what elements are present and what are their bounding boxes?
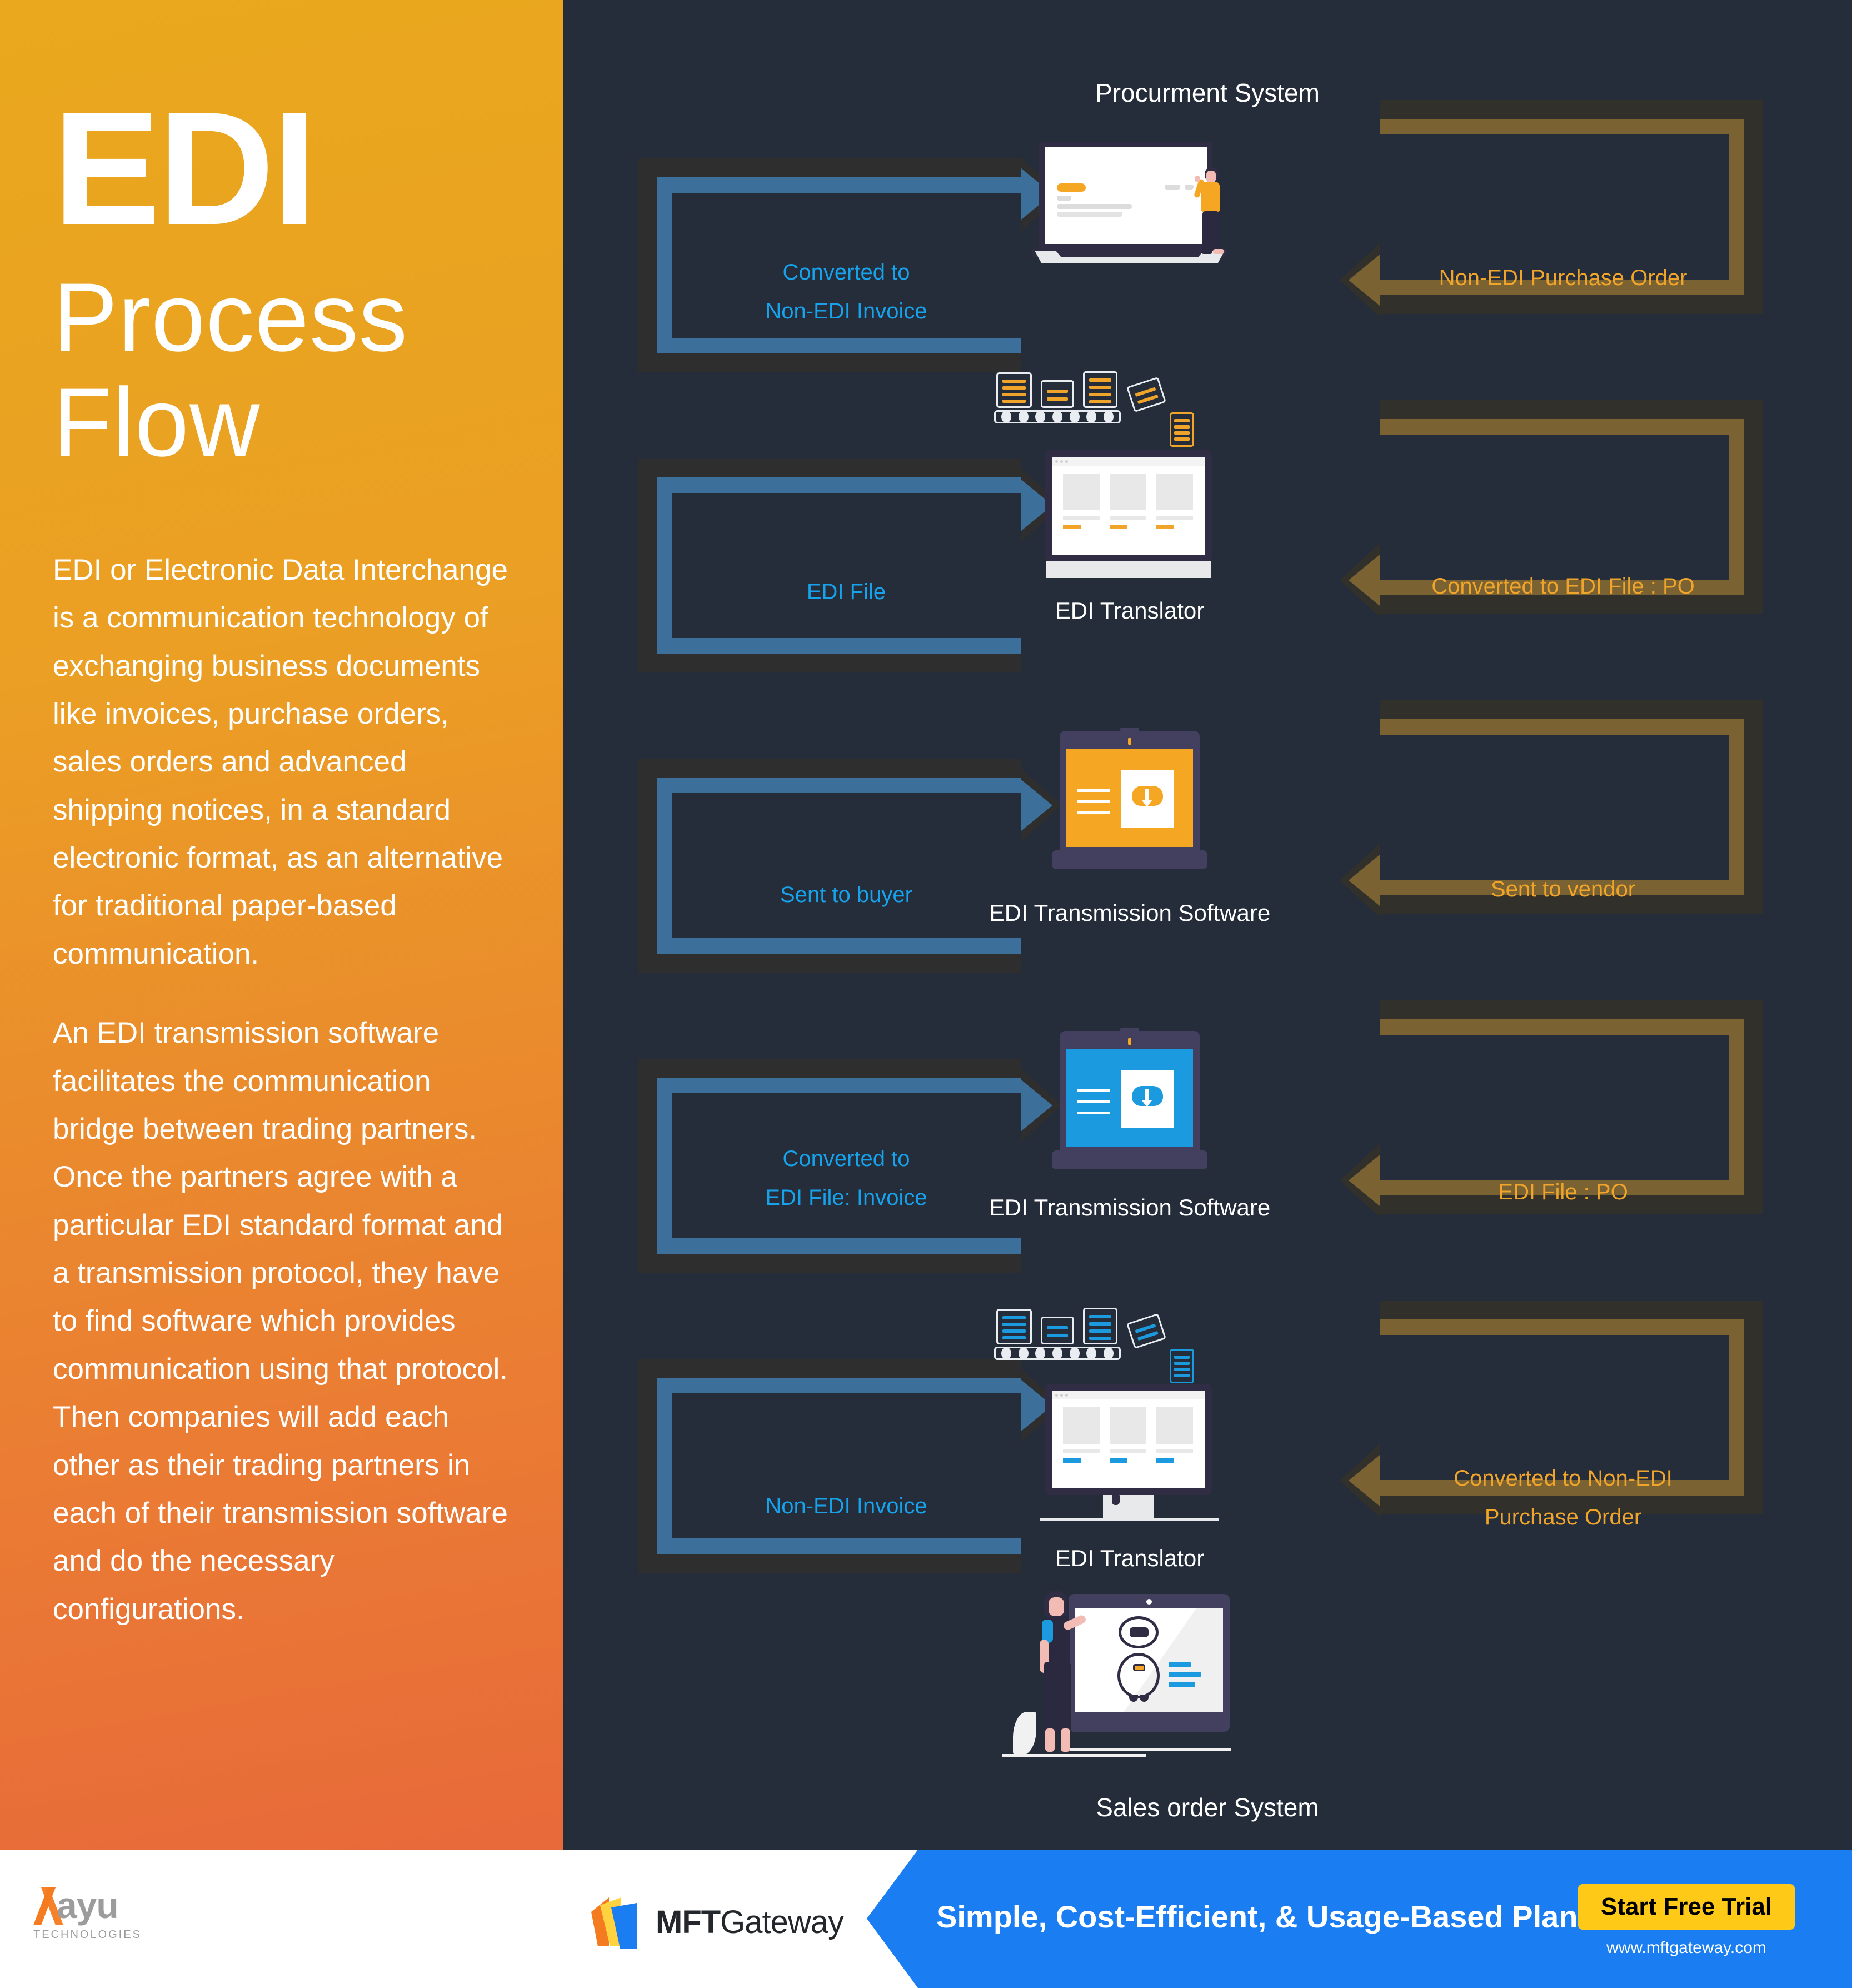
arrowhead-blue-3: [1021, 780, 1052, 831]
document-icon: [1041, 1317, 1074, 1344]
arrowhead-gold-r1: [1349, 255, 1380, 306]
window-titlebar: [1052, 457, 1205, 466]
mftgateway-wordmark: MFTGateway: [656, 1904, 843, 1941]
flow-label-left-2: EDI File: [746, 572, 946, 611]
tablet-screen: [1066, 1049, 1193, 1147]
download-arrow-head: [1142, 1100, 1152, 1107]
flow-arrow-left-3: [638, 759, 1021, 973]
monitor-power-button: [1112, 1493, 1120, 1505]
content-line: [1110, 516, 1146, 520]
document-icon-output: [1170, 1349, 1194, 1383]
arrow-stem-vertical: [657, 778, 672, 954]
process-flow-diagram: Procurment System Sales order System: [563, 0, 1852, 1850]
screen-line: [1077, 789, 1110, 792]
aayu-tagline: TECHNOLOGIES: [33, 1929, 142, 1941]
arrow-stem-bottom: [657, 338, 1021, 353]
person-shirt: [1201, 182, 1220, 212]
content-accent: [1156, 1458, 1174, 1463]
arrow-stem-vertical: [657, 477, 672, 654]
tablet-base: [1052, 850, 1207, 869]
person-leg-skin: [1045, 1728, 1055, 1752]
window-dot: [1060, 460, 1063, 463]
robot-foot: [1129, 1695, 1138, 1702]
monitor-screen: [1052, 457, 1205, 555]
sales-order-system-illustration: [1002, 1590, 1235, 1773]
screen-line: [1185, 185, 1194, 190]
tablet-screen: [1066, 749, 1193, 847]
content-accent: [1156, 525, 1174, 529]
person-head: [1049, 1597, 1064, 1616]
document-icon-output: [1170, 412, 1194, 447]
screen-line: [1165, 185, 1180, 190]
content-block: [1063, 474, 1100, 510]
flow-arrow-left-2: [638, 459, 1021, 672]
page-title-flow: Flow: [53, 370, 518, 475]
screen-accent-chip: [1057, 183, 1086, 192]
flow-label-left-4: Converted to EDI File: Invoice: [746, 1139, 946, 1217]
person-presenting-icon: [1034, 1590, 1081, 1756]
tablet-indicator: [1128, 1038, 1131, 1045]
ground-line: [1002, 1754, 1146, 1757]
person-head: [1206, 171, 1216, 183]
content-block: [1110, 1407, 1146, 1444]
tablet-indicator: [1128, 738, 1131, 745]
content-accent: [1063, 1458, 1081, 1463]
arrow-stem-top: [657, 1078, 1021, 1093]
aayu-logo: ayu TECHNOLOGIES: [33, 1884, 142, 1941]
screen-line: [1077, 1112, 1110, 1114]
tablet-notch: [1120, 1028, 1139, 1033]
person-leg-skin: [1061, 1728, 1070, 1752]
content-block: [1110, 474, 1146, 510]
document-icon-tilted: [1126, 377, 1166, 412]
person-hand: [1195, 176, 1200, 182]
tablet-camera: [1146, 1599, 1152, 1605]
mftgateway-mark-icon: [589, 1893, 647, 1951]
person-standing-icon: [1195, 167, 1226, 261]
robot-visor: [1130, 1627, 1149, 1637]
flow-label-right-5: Converted to Non-EDI Purchase Order: [1385, 1459, 1741, 1537]
screen-line: [1169, 1682, 1195, 1687]
document-icon-tilted: [1126, 1313, 1166, 1349]
document-icon: [996, 1309, 1032, 1344]
window-dot: [1055, 1394, 1058, 1397]
screen-line: [1077, 800, 1110, 803]
monitor-base: [1040, 1518, 1219, 1521]
footer-website-url[interactable]: www.mftgateway.com: [1578, 1939, 1795, 1957]
flow-label-left-3: Sent to buyer: [746, 875, 946, 914]
procurement-system-illustration: [1032, 142, 1227, 286]
node-label-edi-translator-1: EDI Translator: [952, 597, 1307, 624]
content-line: [1156, 516, 1193, 520]
hero-description: EDI or Electronic Data Interchange is a …: [53, 546, 514, 1633]
robot-foot: [1140, 1695, 1149, 1702]
edi-transmission-software-illustration-orange: [1052, 731, 1207, 881]
document-card: [1121, 1070, 1174, 1128]
document-icon: [1083, 1308, 1117, 1344]
screen-line: [1169, 1662, 1191, 1667]
window-dot: [1065, 460, 1068, 463]
person-shoe: [1213, 249, 1224, 254]
screen-line: [1077, 811, 1110, 814]
window-dot: [1060, 1394, 1063, 1397]
content-line: [1063, 516, 1100, 520]
screen-line: [1077, 1100, 1110, 1103]
infographic-page: EDI Process Flow EDI or Electronic Data …: [0, 0, 1852, 1988]
mftgateway-logo: MFTGateway: [589, 1893, 843, 1951]
content-accent: [1110, 525, 1127, 529]
monitor-stand: [1046, 561, 1211, 578]
arrow-stem-top: [657, 1378, 1021, 1393]
page-title-edi: EDI: [53, 94, 518, 243]
tablet-base: [1052, 1150, 1207, 1169]
node-label-edi-transmission-1: EDI Transmission Software: [952, 895, 1307, 931]
flow-label-left-5: Non-EDI Invoice: [746, 1487, 946, 1526]
flow-label-right-3: Sent to vendor: [1385, 870, 1741, 909]
document-cluster-orange-1: [991, 367, 1213, 450]
arrowhead-gold-r4: [1349, 1155, 1380, 1206]
arrow-stem-top: [657, 177, 1021, 193]
person-legs: [1044, 1662, 1071, 1733]
screen-line: [1057, 196, 1071, 201]
screen-line: [1077, 1089, 1110, 1092]
arrow-stem-vertical: [657, 177, 672, 353]
screen-line: [1169, 1672, 1201, 1677]
flow-label-left-1: Converted to Non-EDI Invoice: [746, 253, 946, 331]
aayu-wordmark: ayu: [57, 1884, 118, 1926]
robot-body-outline: [1117, 1653, 1160, 1698]
arrow-stem-bottom: [657, 638, 1021, 654]
flow-label-right-4: EDI File : PO: [1385, 1173, 1741, 1212]
content-block: [1063, 1407, 1100, 1444]
page-title-process: Process: [53, 265, 518, 370]
arrow-stem-vertical: [1729, 719, 1744, 895]
content-accent: [1110, 1458, 1127, 1463]
node-label-edi-translator-2: EDI Translator: [952, 1545, 1307, 1572]
monitor-neck: [1103, 1495, 1154, 1518]
monitor-screen: [1052, 1391, 1205, 1488]
content-block: [1156, 474, 1193, 510]
conveyor-belt-icon: [994, 1347, 1121, 1360]
content-line: [1110, 1449, 1146, 1453]
arrow-stem-vertical: [657, 1078, 672, 1254]
flow-label-right-2: Converted to EDI File : PO: [1385, 567, 1741, 606]
person-legs: [1202, 211, 1219, 251]
laptop-screen: [1045, 147, 1207, 244]
window-titlebar: [1052, 1391, 1205, 1399]
screen-line: [1057, 204, 1132, 209]
hero-panel: EDI Process Flow EDI or Electronic Data …: [0, 0, 563, 1850]
tablet-device: [1069, 1594, 1230, 1744]
node-label-edi-transmission-2: EDI Transmission Software: [952, 1189, 1307, 1225]
arrowhead-blue-4: [1021, 1080, 1052, 1131]
arrow-stem-bottom: [657, 938, 1021, 954]
conveyor-belt-icon: [994, 410, 1121, 423]
arrow-stem-top: [1380, 1319, 1744, 1335]
plant-leaf-icon: [1013, 1712, 1036, 1755]
arrowhead-gold-r2: [1349, 555, 1380, 606]
document-cluster-blue: [991, 1303, 1213, 1387]
content-block: [1156, 1407, 1193, 1444]
flow-label-right-1: Non-EDI Purchase Order: [1385, 258, 1741, 297]
start-free-trial-button[interactable]: Start Free Trial: [1578, 1884, 1795, 1930]
tablet-notch: [1120, 728, 1139, 733]
document-icon: [1083, 371, 1117, 408]
edi-transmission-software-illustration-blue: [1052, 1031, 1207, 1181]
footer-bar: ayu TECHNOLOGIES MFTGateway Simple, Cost…: [0, 1850, 1852, 1988]
person-shoe: [1201, 249, 1212, 254]
content-line: [1156, 1449, 1193, 1453]
document-icon: [1041, 380, 1074, 408]
arrow-stem-top: [657, 778, 1021, 793]
document-icon: [996, 372, 1032, 408]
arrow-stem-vertical: [657, 1378, 672, 1554]
flow-arrow-left-5: [638, 1359, 1021, 1573]
arrow-stem-top: [657, 477, 1021, 493]
arrow-stem-top: [1380, 419, 1744, 435]
document-card: [1121, 770, 1174, 828]
arrow-stem-bottom: [657, 1238, 1021, 1254]
content-accent: [1063, 525, 1081, 529]
hero-paragraph-2: An EDI transmission software facilitates…: [53, 1009, 514, 1633]
arrow-stem-top: [1380, 1019, 1744, 1035]
footer-tagline: Simple, Cost-Efficient, & Usage-Based Pl…: [936, 1899, 1578, 1935]
arrow-stem-top: [1380, 719, 1744, 735]
arrowhead-gold-r5: [1349, 1455, 1380, 1506]
window-dot: [1065, 1394, 1068, 1397]
robot-chest-panel: [1133, 1664, 1145, 1671]
ground-line: [1070, 1748, 1231, 1751]
screen-line: [1057, 212, 1122, 217]
content-line: [1063, 1449, 1100, 1453]
sales-order-system-title: Sales order System: [563, 1792, 1852, 1822]
tablet-screen: [1075, 1608, 1223, 1712]
edi-translator-illustration-2: [1045, 1384, 1212, 1531]
hero-paragraph-1: EDI or Electronic Data Interchange is a …: [53, 546, 514, 978]
download-arrow-head: [1142, 800, 1152, 807]
arrowhead-gold-r3: [1349, 855, 1380, 906]
arrow-stem-vertical: [1729, 1019, 1744, 1195]
window-dot: [1055, 460, 1058, 463]
edi-translator-illustration-1: [1045, 450, 1212, 586]
arrow-stem-top: [1380, 119, 1744, 134]
tablet-base: [1069, 1712, 1230, 1732]
